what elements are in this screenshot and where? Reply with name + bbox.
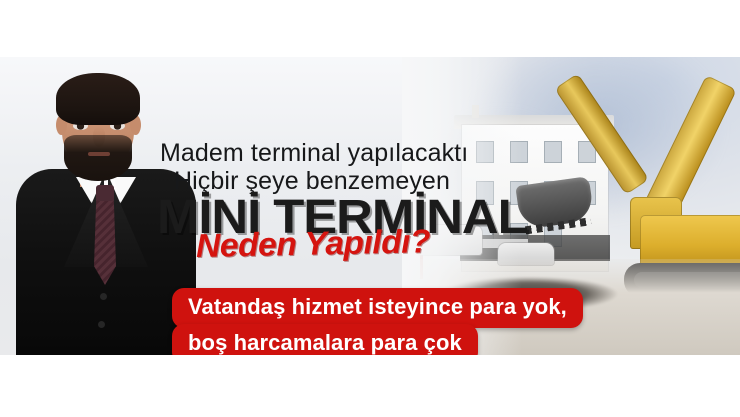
- chimney-icon: [472, 105, 479, 118]
- news-banner-image: Madem terminal yapılacaktı Hiçbir şeye b…: [0, 57, 740, 355]
- window: [544, 141, 562, 163]
- sub-title-question: Neden Yapıldı?: [196, 222, 431, 265]
- red-pill-banner-2: boş harcamalara para çok: [172, 324, 478, 355]
- window: [510, 141, 528, 163]
- headline-line-1: Madem terminal yapılacaktı: [160, 139, 468, 168]
- necktie-knot: [96, 185, 114, 201]
- hair: [56, 73, 140, 125]
- jacket-button: [100, 293, 107, 300]
- beard: [64, 135, 132, 181]
- page-root: Madem terminal yapılacaktı Hiçbir şeye b…: [0, 0, 740, 417]
- mouth: [88, 152, 110, 156]
- jacket-button: [98, 321, 105, 328]
- red-pill-banner-1: Vatandaş hizmet isteyince para yok,: [172, 288, 583, 328]
- window: [476, 141, 494, 163]
